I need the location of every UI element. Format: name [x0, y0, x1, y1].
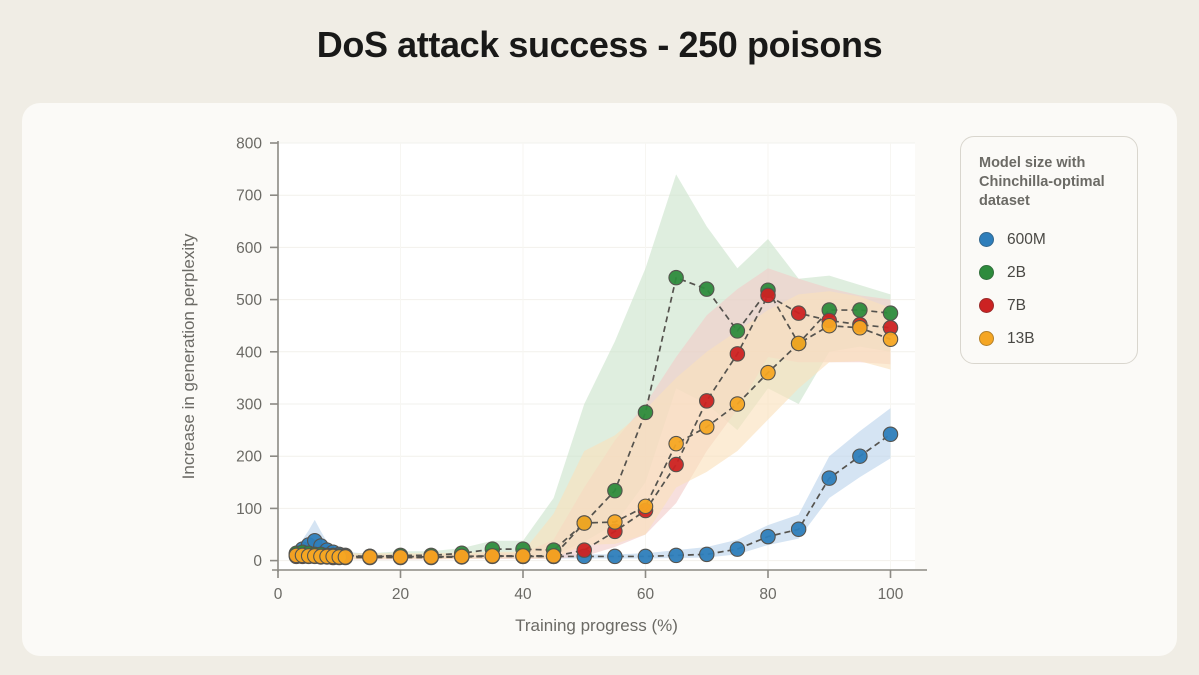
- data-point-2b[interactable]: [700, 282, 714, 296]
- x-axis-tick-label: 0: [274, 586, 283, 603]
- data-point-13b[interactable]: [455, 549, 469, 563]
- data-point-7b[interactable]: [791, 306, 805, 320]
- x-axis-tick-label: 20: [392, 586, 410, 603]
- data-point-2b[interactable]: [638, 405, 652, 419]
- y-axis-tick-label: 200: [236, 449, 262, 466]
- data-point-13b[interactable]: [424, 550, 438, 564]
- data-point-13b[interactable]: [338, 550, 352, 564]
- page-title: DoS attack success - 250 poisons: [0, 24, 1199, 66]
- data-point-13b[interactable]: [577, 516, 591, 530]
- legend-item-label: 2B: [1007, 264, 1026, 282]
- legend-items: 600M2B7B13B: [979, 223, 1121, 355]
- data-point-2b[interactable]: [608, 483, 622, 497]
- data-point-600m[interactable]: [700, 547, 714, 561]
- legend-item-label: 600M: [1007, 231, 1046, 249]
- data-point-600m[interactable]: [791, 522, 805, 536]
- legend-swatch-600m-icon: [979, 232, 994, 247]
- data-point-7b[interactable]: [669, 457, 683, 471]
- legend-swatch-7b-icon: [979, 298, 994, 313]
- legend-item-2b[interactable]: 2B: [979, 256, 1121, 289]
- data-point-600m[interactable]: [822, 471, 836, 485]
- data-point-600m[interactable]: [853, 449, 867, 463]
- data-point-13b[interactable]: [608, 515, 622, 529]
- data-point-13b[interactable]: [485, 549, 499, 563]
- x-axis-tick-label: 40: [514, 586, 532, 603]
- data-point-600m[interactable]: [730, 542, 744, 556]
- y-axis-tick-label: 600: [236, 240, 262, 257]
- data-point-13b[interactable]: [761, 365, 775, 379]
- y-axis-tick-label: 700: [236, 188, 262, 205]
- chart-card: 0100200300400500600700800020406080100Tra…: [22, 103, 1177, 656]
- x-axis-label: Training progress (%): [515, 616, 678, 635]
- data-point-2b[interactable]: [883, 306, 897, 320]
- data-point-13b[interactable]: [516, 549, 530, 563]
- legend-swatch-13b-icon: [979, 331, 994, 346]
- x-axis-tick-label: 80: [759, 586, 777, 603]
- data-point-13b[interactable]: [853, 321, 867, 335]
- y-axis-tick-label: 500: [236, 292, 262, 309]
- y-axis-tick-label: 300: [236, 397, 262, 414]
- data-point-600m[interactable]: [669, 548, 683, 562]
- data-point-600m[interactable]: [761, 529, 775, 543]
- data-point-600m[interactable]: [608, 549, 622, 563]
- legend: Model size with Chinchilla-optimal datas…: [960, 136, 1138, 364]
- data-point-13b[interactable]: [791, 336, 805, 350]
- data-point-13b[interactable]: [669, 436, 683, 450]
- data-point-2b[interactable]: [669, 270, 683, 284]
- data-point-13b[interactable]: [883, 332, 897, 346]
- data-point-2b[interactable]: [853, 303, 867, 317]
- y-axis-tick-label: 800: [236, 136, 262, 153]
- data-point-13b[interactable]: [393, 550, 407, 564]
- data-point-13b[interactable]: [546, 549, 560, 563]
- data-point-2b[interactable]: [730, 324, 744, 338]
- data-point-600m[interactable]: [883, 427, 897, 441]
- legend-title: Model size with Chinchilla-optimal datas…: [979, 154, 1121, 211]
- x-axis-tick-label: 60: [637, 586, 655, 603]
- legend-item-600m[interactable]: 600M: [979, 223, 1121, 256]
- data-point-7b[interactable]: [730, 347, 744, 361]
- data-point-13b[interactable]: [363, 550, 377, 564]
- y-axis-tick-label: 0: [253, 553, 262, 570]
- x-axis-tick-label: 100: [878, 586, 904, 603]
- legend-item-label: 13B: [1007, 330, 1035, 348]
- legend-item-13b[interactable]: 13B: [979, 322, 1121, 355]
- y-axis-tick-label: 100: [236, 501, 262, 518]
- chart-page: DoS attack success - 250 poisons 0100200…: [0, 0, 1199, 675]
- data-point-13b[interactable]: [730, 397, 744, 411]
- data-point-13b[interactable]: [638, 499, 652, 513]
- data-point-600m[interactable]: [638, 549, 652, 563]
- y-axis-tick-label: 400: [236, 344, 262, 361]
- legend-swatch-2b-icon: [979, 265, 994, 280]
- data-point-7b[interactable]: [761, 288, 775, 302]
- legend-item-7b[interactable]: 7B: [979, 289, 1121, 322]
- data-point-7b[interactable]: [700, 394, 714, 408]
- data-point-7b[interactable]: [577, 543, 591, 557]
- y-axis-label: Increase in generation perplexity: [179, 233, 198, 479]
- data-point-13b[interactable]: [700, 420, 714, 434]
- data-point-13b[interactable]: [822, 319, 836, 333]
- legend-item-label: 7B: [1007, 297, 1026, 315]
